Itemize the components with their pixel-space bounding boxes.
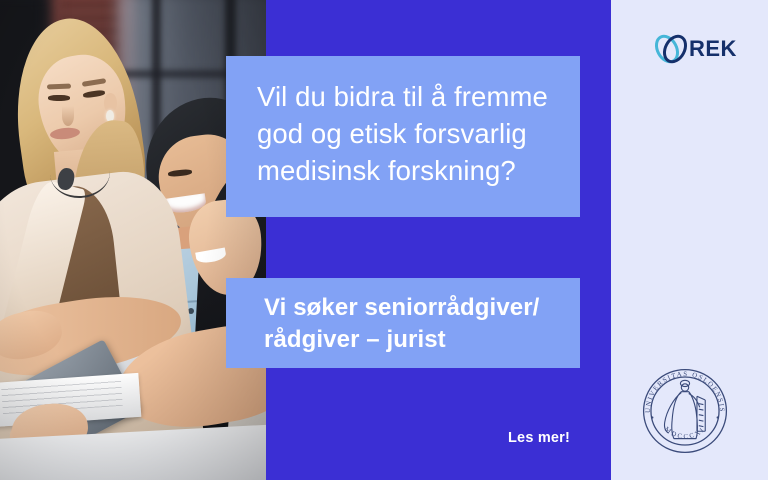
job-title-box: Vi søker seniorrådgiver/ rådgiver – juri… <box>226 278 580 368</box>
read-more-link[interactable]: Les mer! <box>508 430 570 446</box>
headline-box: Vil du bidra til å fremme god og etisk f… <box>226 56 580 217</box>
uio-seal: UNIVERSITAS OSLOENSIS MDCCCXI <box>639 365 731 457</box>
job-title-text: Vi søker seniorrådgiver/ rådgiver – juri… <box>264 292 574 356</box>
svg-text:MDCCCXI: MDCCCXI <box>663 426 707 441</box>
rek-rings-icon <box>651 29 691 69</box>
rek-logo[interactable]: REK <box>651 28 736 70</box>
headline-text: Vil du bidra til å fremme god og etisk f… <box>257 78 567 189</box>
seal-year-text: MDCCCXI <box>663 426 707 441</box>
rek-wordmark: REK <box>689 38 737 60</box>
campaign-banner: Vil du bidra til å fremme god og etisk f… <box>0 0 768 480</box>
